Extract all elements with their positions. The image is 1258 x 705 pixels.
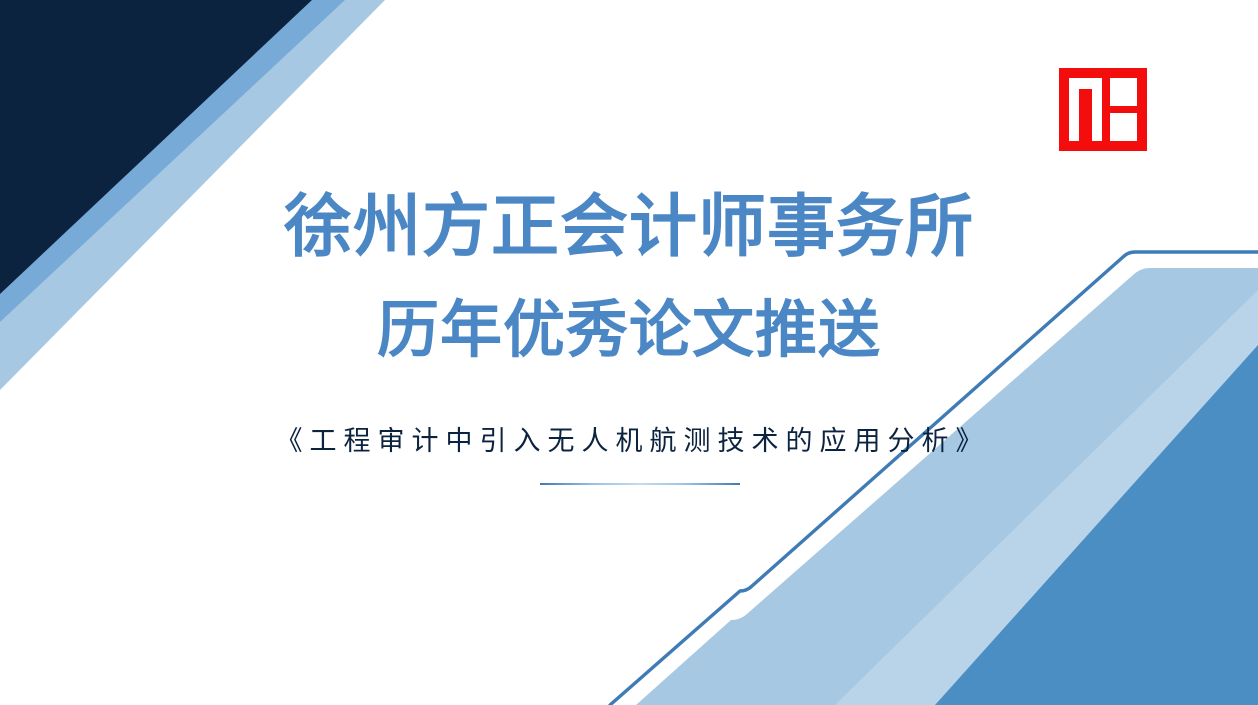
logo-inner-left-bar-b [1092,78,1102,141]
page-title-line-1: 徐州方正会计师事务所 [0,190,1258,265]
page-title-line-2: 历年优秀论文推送 [0,297,1258,365]
decor-wedge-overlay-deep [935,345,1258,705]
fangzheng-logo [1059,68,1147,151]
decor-wedge-deep-blue [800,330,1258,705]
logo-inner-right-bottom [1110,113,1137,141]
slide-canvas: 徐州方正会计师事务所 历年优秀论文推送 《工程审计中引入无人机航测技术的应用分析… [0,0,1258,705]
title-divider [540,483,740,485]
page-subtitle: 《工程审计中引入无人机航测技术的应用分析》 [0,424,1258,459]
decor-band-mid-blue [0,0,345,322]
logo-inner-right-top [1110,78,1137,106]
